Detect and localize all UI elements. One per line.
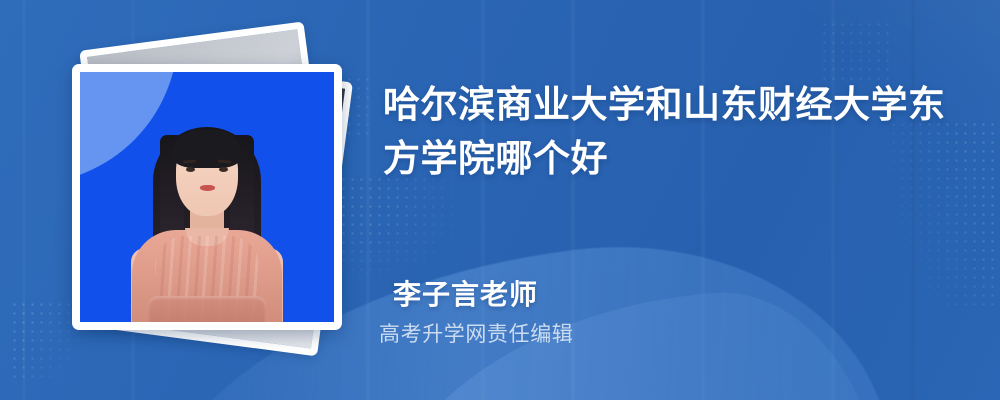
portrait-eye-right <box>219 167 228 172</box>
banner-text-column: 哈尔滨商业大学和山东财经大学东方学院哪个好 李子言老师 高考升学网责任编辑 <box>377 0 977 400</box>
author-role: 高考升学网责任编辑 <box>379 318 573 348</box>
avatar-photo-card <box>72 64 342 330</box>
portrait-dress-waistband <box>148 296 266 322</box>
portrait-brow-right <box>218 159 231 163</box>
author-name: 李子言老师 <box>393 273 538 313</box>
portrait-eye-left <box>186 167 195 172</box>
portrait-brow-left <box>183 159 196 163</box>
portrait-dress <box>132 230 282 322</box>
article-cover-banner: 哈尔滨商业大学和山东财经大学东方学院哪个好 李子言老师 高考升学网责任编辑 <box>0 0 1000 400</box>
page-title: 哈尔滨商业大学和山东财经大学东方学院哪个好 <box>383 78 963 186</box>
photo-stack <box>40 30 370 360</box>
avatar <box>80 72 334 322</box>
portrait-lips <box>200 185 215 191</box>
